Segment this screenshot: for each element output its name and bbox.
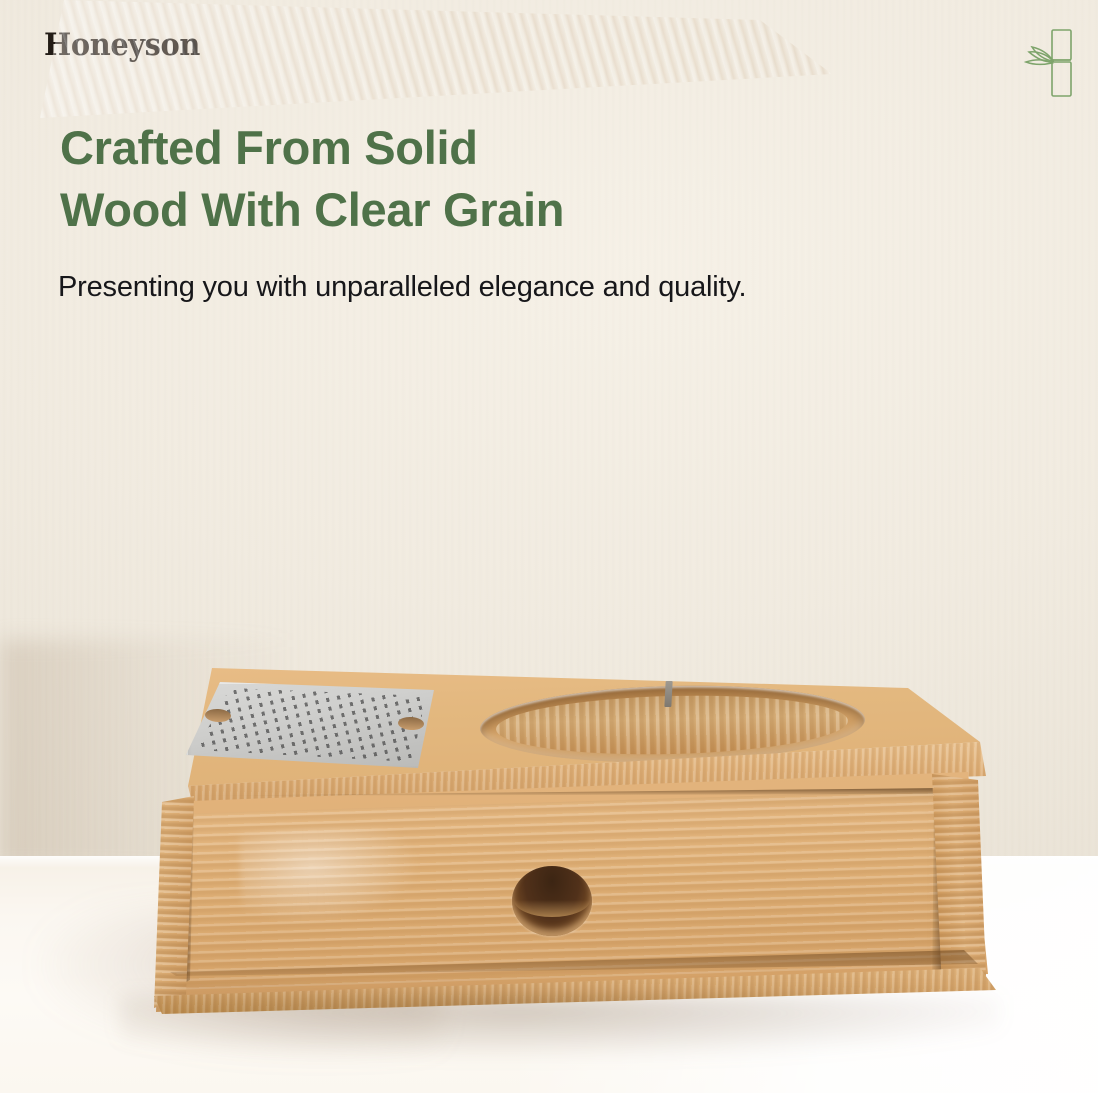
wall-left-shading [0, 640, 300, 870]
page-subtitle: Presenting you with unparalleled eleganc… [58, 267, 1038, 307]
headline-line-2: Wood With Clear Grain [60, 179, 820, 241]
brand-logo: Honeyson [44, 27, 200, 63]
headline-line-1: Crafted From Solid [60, 121, 478, 174]
wall-floor-edge [0, 856, 1098, 868]
contact-shadow [120, 995, 1000, 1055]
page-title: Crafted From Solid Wood With Clear Grain [60, 117, 820, 241]
bamboo-stalk-icon [1010, 22, 1080, 104]
floor-highlight [520, 856, 1098, 1093]
promo-poster: Honeyson Crafted From Solid Wood With Cl… [0, 0, 1098, 1093]
